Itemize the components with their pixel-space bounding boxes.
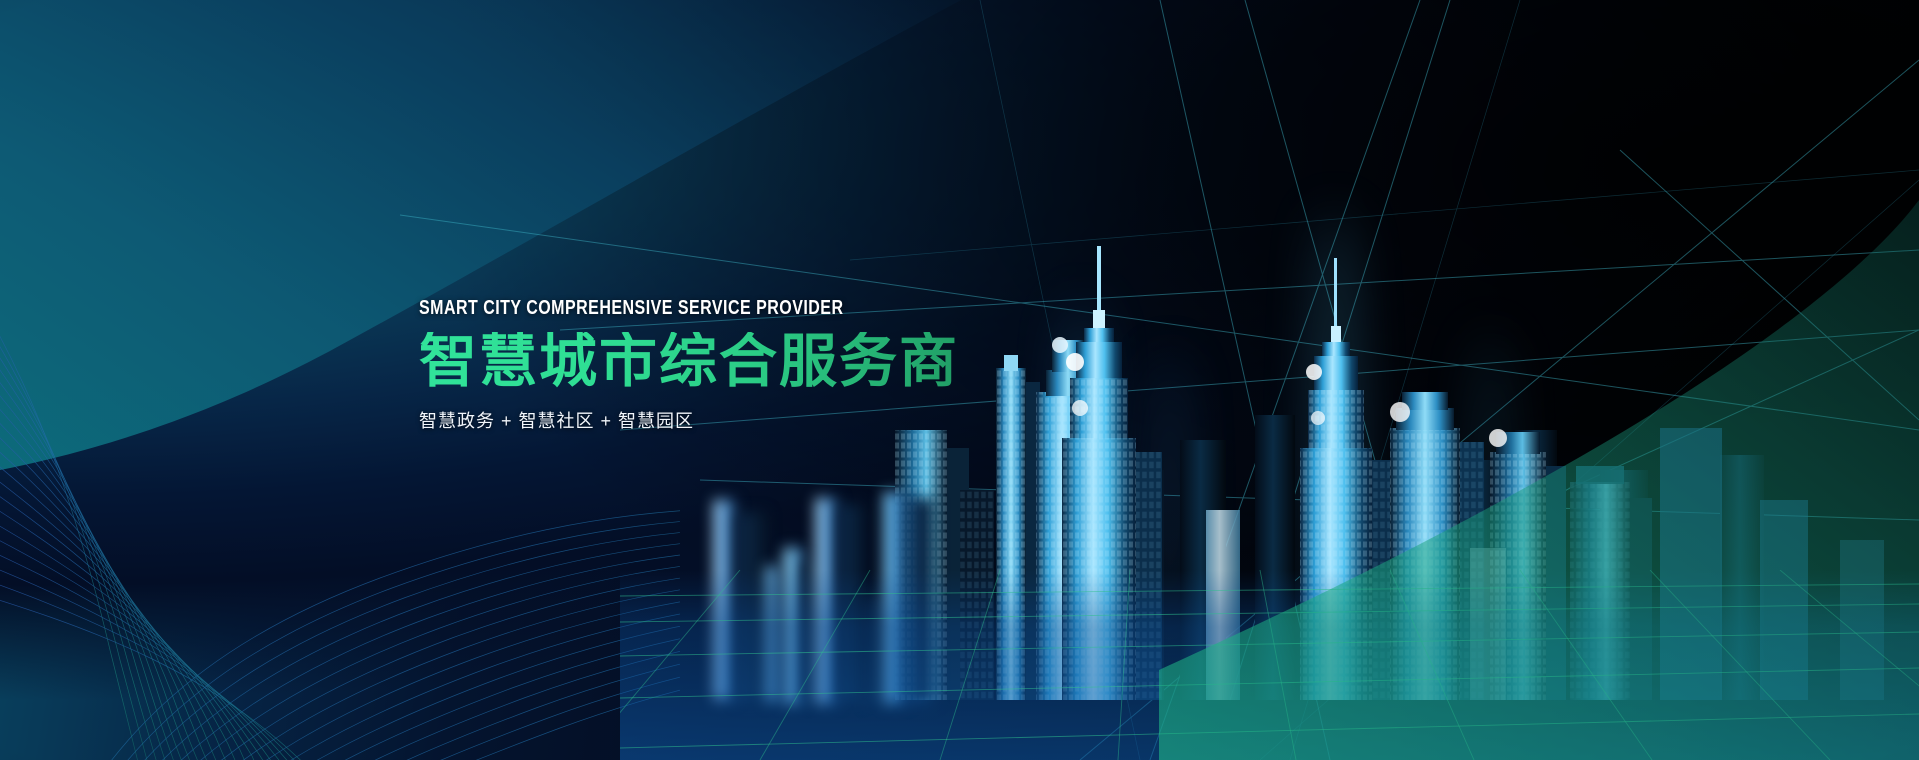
right-swoosh-decoration [1159,200,1919,760]
hero-banner: SMART CITY COMPREHENSIVE SERVICE PROVIDE… [0,0,1919,760]
hero-copy: SMART CITY COMPREHENSIVE SERVICE PROVIDE… [419,297,1179,433]
subtitle-text: 智慧政务 + 智慧社区 + 智慧园区 [419,407,1179,433]
page-title: 智慧城市综合服务商 [419,332,1179,393]
eyebrow-text: SMART CITY COMPREHENSIVE SERVICE PROVIDE… [419,297,1027,320]
